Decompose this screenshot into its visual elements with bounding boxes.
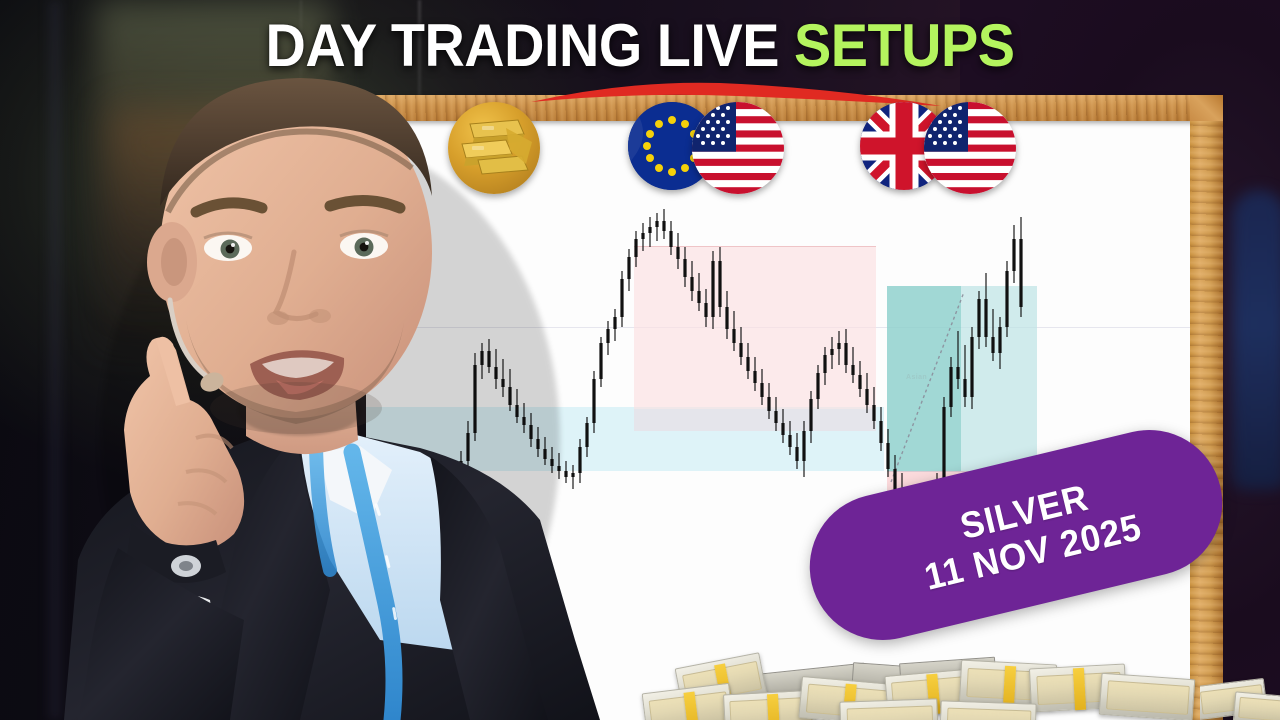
chart-candle bbox=[984, 273, 987, 347]
instrument-icon-gold bbox=[448, 102, 540, 194]
chart-candle bbox=[802, 421, 805, 477]
chart-candle bbox=[711, 251, 714, 329]
instrument-icon-gbpusd bbox=[860, 102, 1020, 194]
hundred-dollar-bill bbox=[839, 698, 938, 720]
chart-candle bbox=[837, 331, 840, 365]
chart-candle bbox=[865, 373, 868, 413]
thumbnail-canvas: Asian bbox=[0, 0, 1280, 720]
background-chair-shape bbox=[1232, 190, 1280, 490]
money-stacks-right bbox=[1200, 676, 1280, 720]
hundred-dollar-bill bbox=[1099, 673, 1196, 720]
chart-candle bbox=[753, 357, 756, 391]
us-flag-icon bbox=[692, 102, 784, 194]
chart-candle bbox=[991, 309, 994, 361]
us-flag-icon bbox=[924, 102, 1016, 194]
chart-candle bbox=[718, 247, 721, 317]
chart-candle bbox=[1019, 217, 1022, 317]
chart-candle bbox=[830, 337, 833, 369]
chart-candle bbox=[823, 347, 826, 385]
chart-candle bbox=[774, 397, 777, 431]
chart-candle bbox=[851, 347, 854, 383]
instrument-icon-eurusd bbox=[628, 102, 788, 194]
title-white-part: DAY TRADING LIVE bbox=[266, 12, 779, 79]
chart-candle bbox=[704, 289, 707, 327]
title-green-part: SETUPS bbox=[794, 12, 1014, 79]
chart-candle bbox=[760, 369, 763, 405]
hundred-dollar-bill bbox=[939, 700, 1036, 720]
chart-candle bbox=[956, 331, 959, 389]
chart-candle bbox=[795, 433, 798, 469]
chart-candle bbox=[725, 291, 728, 339]
chart-candle bbox=[977, 291, 980, 349]
picture-frame-corner bbox=[1190, 95, 1223, 121]
chart-candle bbox=[963, 345, 966, 407]
chart-candle bbox=[816, 365, 819, 409]
chart-candle bbox=[879, 407, 882, 451]
chart-candle bbox=[872, 387, 875, 429]
chart-candle bbox=[809, 391, 812, 443]
chart-candle bbox=[1005, 261, 1008, 337]
gold-bars-icon bbox=[448, 102, 540, 194]
chart-candle bbox=[858, 361, 861, 397]
chart-candle bbox=[788, 421, 791, 455]
chart-candle bbox=[746, 343, 749, 379]
chart-candle bbox=[949, 357, 952, 417]
hundred-dollar-bill bbox=[1233, 691, 1280, 720]
instrument-icon-row bbox=[366, 100, 1190, 210]
chart-candle bbox=[1012, 225, 1015, 283]
picture-frame-right bbox=[1190, 95, 1223, 720]
chart-candle bbox=[739, 327, 742, 365]
chart-candle bbox=[886, 429, 889, 477]
chart-candle bbox=[844, 329, 847, 373]
chart-candle bbox=[998, 317, 1001, 369]
chart-candle bbox=[970, 327, 973, 409]
chart-candle bbox=[732, 311, 735, 351]
chart-candle bbox=[767, 383, 770, 419]
chart-candle bbox=[781, 409, 784, 443]
page-title: DAY TRADING LIVE SETUPS bbox=[45, 14, 1235, 78]
